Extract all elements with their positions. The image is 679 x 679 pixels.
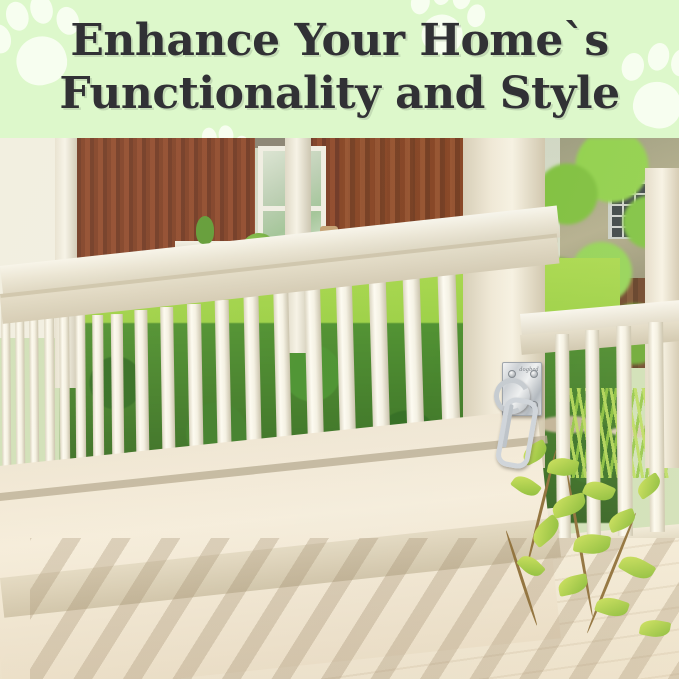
porch-photograph: dogbed [0,138,679,679]
headline-line-1: Enhance Your Home`s [0,17,679,65]
product-banner: Enhance Your Home`s Functionality and St… [0,0,679,679]
headline-banner: Enhance Your Home`s Functionality and St… [0,0,679,138]
headline-line-2: Functionality and Style [0,70,679,118]
photo-warm-overlay [0,138,679,679]
